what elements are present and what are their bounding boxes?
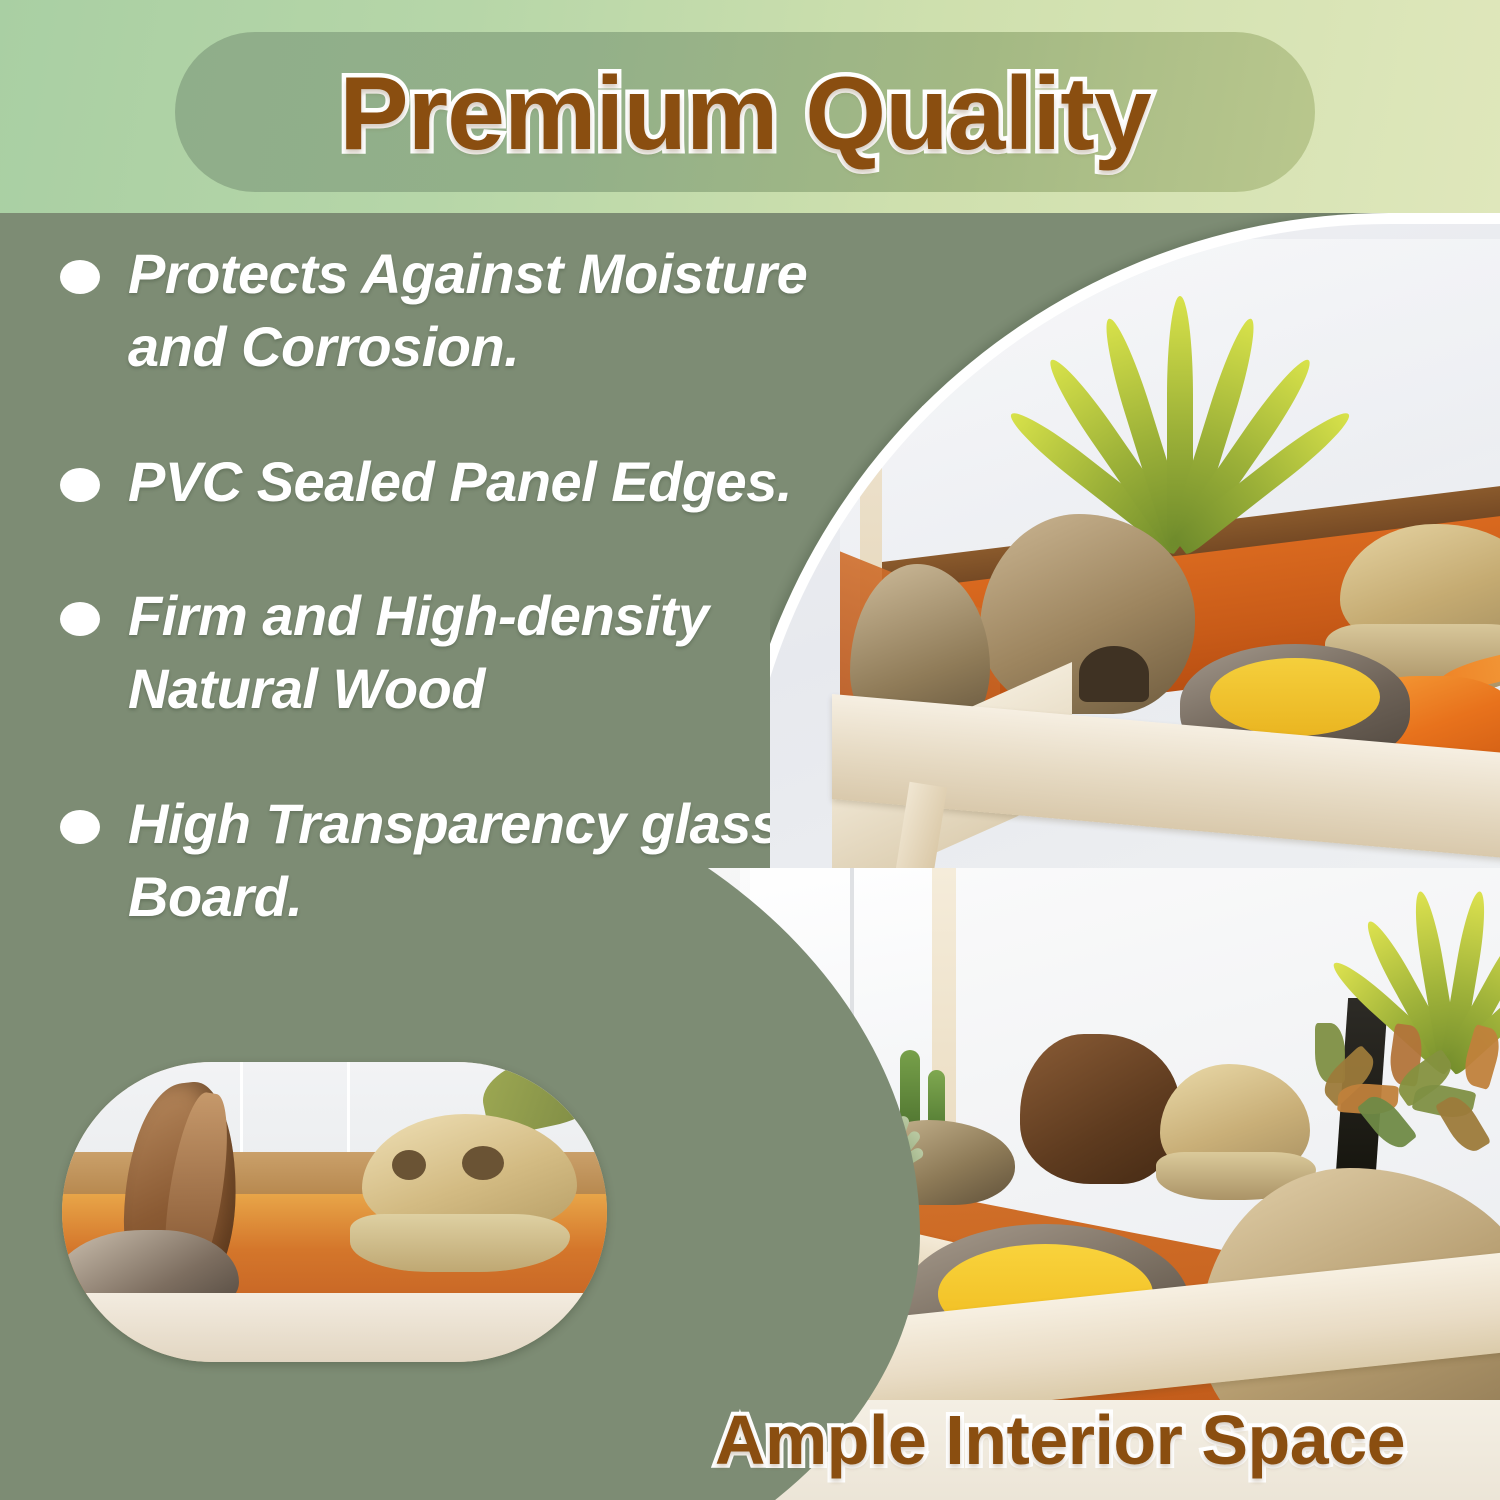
feeding-bowl-interior <box>1210 658 1380 736</box>
skull-eye-socket <box>462 1146 504 1180</box>
product-photo-top-right <box>770 213 1500 873</box>
feature-text: PVC Sealed Panel Edges. <box>128 446 792 519</box>
list-item: PVC Sealed Panel Edges. <box>60 446 860 519</box>
infographic-canvas: Premium Quality Protects Against Moistur… <box>0 0 1500 1500</box>
inset-wood-base <box>62 1293 607 1362</box>
foliage-leaf <box>1435 1091 1492 1158</box>
foliage-decoration <box>1300 1028 1500 1168</box>
bottom-caption: Ample Interior Space <box>620 1392 1500 1488</box>
page-title: Premium Quality <box>175 38 1315 190</box>
list-item: Protects Against Moisture and Corrosion. <box>60 238 860 384</box>
feature-list: Protects Against Moisture and Corrosion.… <box>60 238 860 978</box>
product-photo-inset <box>62 1062 607 1362</box>
list-item: Firm and High-density Natural Wood <box>60 580 860 726</box>
skull-eye-socket <box>392 1150 426 1180</box>
feature-text: Firm and High-density Natural Wood <box>128 580 848 726</box>
bullet-dot-icon <box>60 602 100 636</box>
fern-plant-decoration <box>1040 246 1320 546</box>
foliage-leaf <box>1459 1024 1500 1090</box>
photo-top-frame <box>770 213 1500 873</box>
dinosaur-skull-jaw <box>350 1214 570 1272</box>
bullet-dot-icon <box>60 810 100 844</box>
feature-text: Protects Against Moisture and Corrosion. <box>128 238 848 384</box>
bullet-dot-icon <box>60 468 100 502</box>
bullet-dot-icon <box>60 260 100 294</box>
